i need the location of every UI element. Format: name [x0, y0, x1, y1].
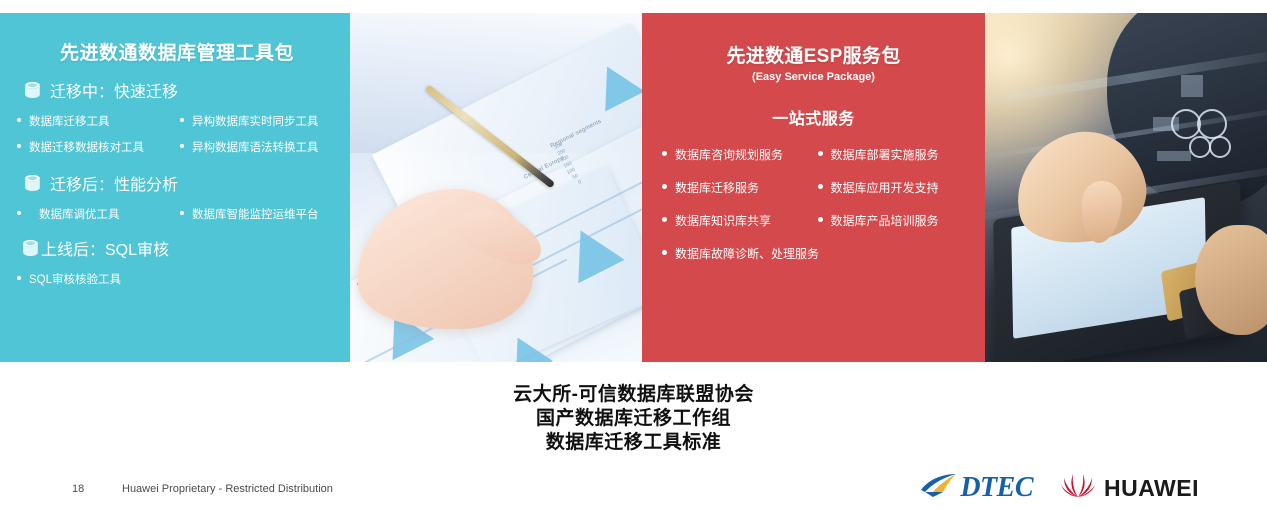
huawei-wordmark: HUAWEI [1104, 475, 1199, 502]
database-icon [22, 239, 39, 258]
dtec-mark-icon [919, 473, 959, 504]
list-item: 数据库迁移服务 [658, 172, 814, 205]
section-heading-label: 迁移后：性能分析 [50, 171, 178, 195]
list-item: 数据库应用开发支持 [814, 172, 970, 205]
toolkit-list-migration: 数据库迁移工具 异构数据库实时同步工具 数据迁移数据核对工具 异构数据库语法转换… [14, 109, 340, 161]
page-number: 18 [72, 483, 84, 495]
toolkit-list-sql-review: SQL审核核验工具 [14, 267, 340, 293]
business-charts-photo: Regional segments Central Europe West Eu… [350, 13, 642, 362]
section-heading-performance: 迁移后：性能分析 [24, 171, 340, 195]
section-heading-label: 上线后：SQL审核 [41, 236, 169, 260]
list-item: 数据库咨询规划服务 [658, 139, 814, 172]
database-icon [24, 174, 41, 193]
hud-ring [1197, 109, 1227, 139]
caption-line-3: 数据库迁移工具标准 [0, 431, 1267, 455]
esp-panel-title: 先进数通ESP服务包 [650, 41, 977, 68]
esp-service-list: 数据库咨询规划服务 数据库部署实施服务 数据库迁移服务 数据库应用开发支持 数据… [650, 139, 977, 271]
toolkit-list-performance: 数据库调优工具 数据库智能监控运维平台 [14, 202, 340, 228]
section-heading-sql-review: 上线后：SQL审核 [22, 236, 340, 260]
slide-caption: 云大所-可信数据库联盟协会 国产数据库迁移工作组 数据库迁移工具标准 [0, 383, 1267, 455]
hud-block [1181, 75, 1203, 97]
list-item: 数据库知识库共享 [658, 205, 814, 238]
list-item: 数据库智能监控运维平台 [177, 202, 340, 228]
logo-bar: DTEC HUAWEI [919, 472, 1199, 504]
dtec-logo: DTEC [919, 472, 1033, 504]
list-item: 数据迁移数据核对工具 [14, 135, 177, 161]
dtec-wordmark: DTEC [960, 472, 1033, 504]
huawei-flower-icon [1061, 473, 1095, 504]
section-heading-label: 迁移中：快速迁移 [50, 78, 178, 102]
list-item: 数据库迁移工具 [14, 109, 177, 135]
section-heading-migration: 迁移中：快速迁移 [24, 78, 340, 102]
hud-ring [1189, 136, 1211, 158]
caption-line-1: 云大所-可信数据库联盟协会 [0, 383, 1267, 407]
banner-strip: Regional segments Central Europe West Eu… [0, 13, 1267, 362]
list-item: 数据库故障诊断、处理服务 [658, 238, 969, 271]
list-item: 数据库产品培训服务 [814, 205, 970, 238]
list-item: 数据库调优工具 [14, 202, 177, 228]
tablet-touch-photo [985, 13, 1267, 362]
list-item: 数据库部署实施服务 [814, 139, 970, 172]
esp-panel-subtitle: (Easy Service Package) [650, 71, 977, 83]
list-item: SQL审核核验工具 [14, 267, 340, 293]
toolkit-panel-title: 先进数通数据库管理工具包 [14, 38, 340, 65]
caption-line-2: 国产数据库迁移工作组 [0, 407, 1267, 431]
hud-ring [1209, 136, 1231, 158]
esp-service-panel: 先进数通ESP服务包 (Easy Service Package) 一站式服务 … [642, 13, 985, 362]
esp-panel-mid-heading: 一站式服务 [650, 105, 977, 129]
list-item: 异构数据库语法转换工具 [177, 135, 340, 161]
hud-block [1157, 151, 1191, 161]
toolkit-panel: 先进数通数据库管理工具包 迁移中：快速迁移 数据库迁移工具 异构数据库实时同步工… [0, 13, 350, 362]
huawei-logo: HUAWEI [1061, 473, 1199, 504]
list-item: 异构数据库实时同步工具 [177, 109, 340, 135]
confidentiality-notice: Huawei Proprietary - Restricted Distribu… [122, 483, 333, 495]
database-icon [24, 81, 41, 100]
